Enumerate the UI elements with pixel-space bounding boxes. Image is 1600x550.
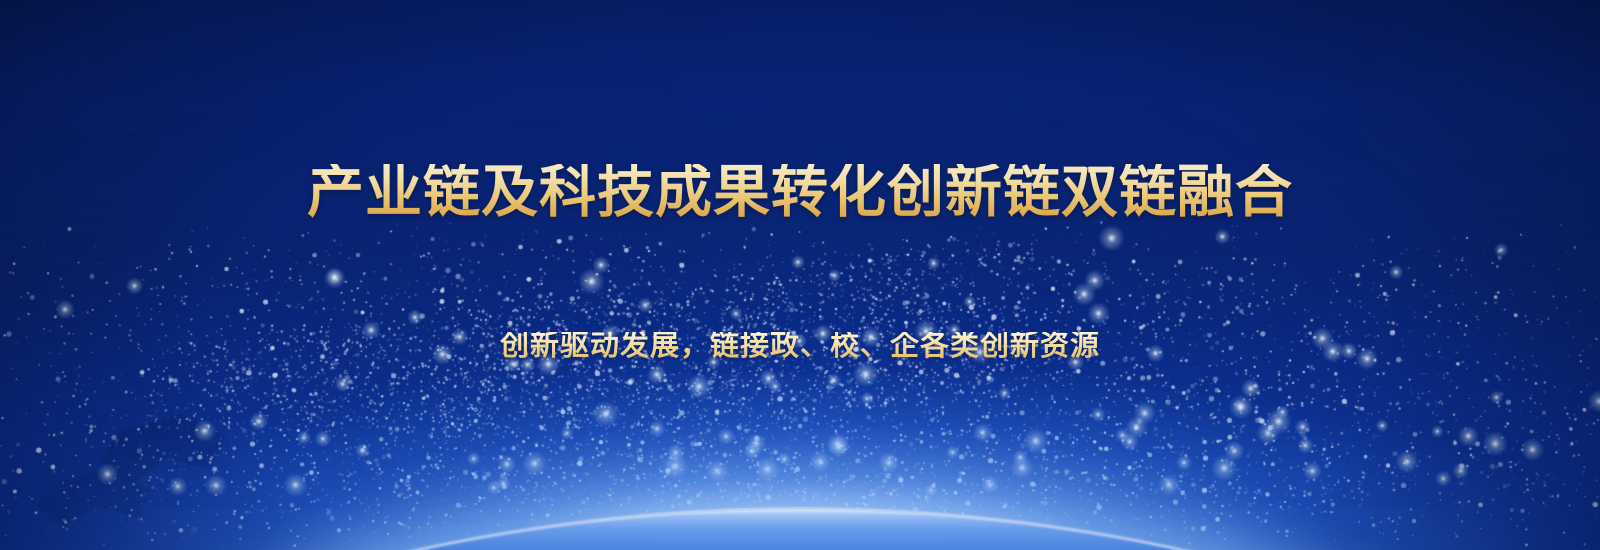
banner-subtitle: 创新驱动发展，链接政、校、企各类创新资源 [0, 332, 1600, 361]
hero-banner: 产业链及科技成果转化创新链双链融合 创新驱动发展，链接政、校、企各类创新资源 [0, 0, 1600, 550]
banner-title: 产业链及科技成果转化创新链双链融合 [0, 164, 1600, 221]
banner-content: 产业链及科技成果转化创新链双链融合 创新驱动发展，链接政、校、企各类创新资源 [0, 0, 1600, 550]
